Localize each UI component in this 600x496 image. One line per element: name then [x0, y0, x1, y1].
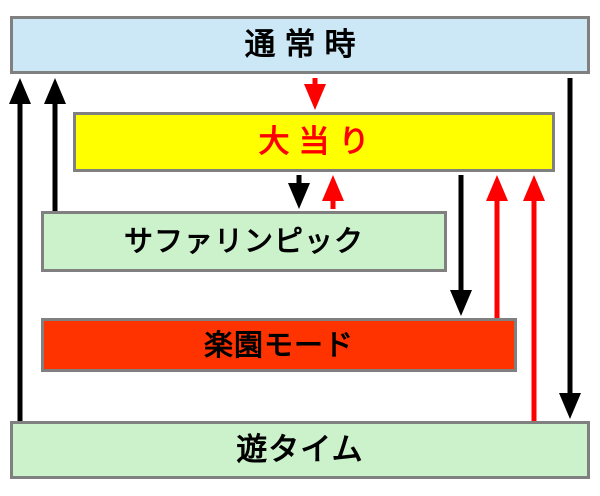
arrow-safarinpikku-to-jackpot-head [322, 175, 344, 201]
arrow-yutime-to-normal[interactable] [9, 78, 31, 421]
arrow-jackpot-to-rakuen[interactable] [450, 175, 472, 316]
arrow-jackpot-to-rakuen-head [450, 290, 472, 316]
node-rakuen-mode-label: 楽園モード [204, 331, 354, 360]
arrow-safarinpikku-to-normal[interactable] [44, 78, 66, 211]
arrow-yutime-to-jackpot-head [523, 175, 545, 201]
node-jackpot-label: 大当り [250, 127, 379, 158]
arrow-jackpot-to-safarinpikku-head [288, 183, 310, 209]
arrow-normal-to-jackpot-head [304, 84, 326, 110]
node-normal-mode-label: 通常時 [236, 30, 365, 61]
node-safarinpikku[interactable]: サファリンピック [41, 211, 447, 272]
node-jackpot[interactable]: 大当り [73, 112, 555, 172]
arrow-safarinpikku-to-jackpot[interactable] [322, 175, 344, 209]
arrow-safarinpikku-to-normal-head [44, 78, 66, 104]
arrow-normal-to-yutime-head [559, 393, 581, 419]
arrow-rakuen-to-jackpot-head [486, 175, 508, 201]
arrow-rakuen-to-jackpot[interactable] [486, 175, 508, 318]
arrow-normal-to-yutime[interactable] [559, 78, 581, 419]
arrow-jackpot-to-safarinpikku[interactable] [288, 175, 310, 209]
arrow-yutime-to-normal-head [9, 78, 31, 104]
arrow-yutime-to-jackpot[interactable] [523, 175, 545, 421]
node-yutime-label: 遊タイム [236, 435, 363, 466]
node-rakuen-mode[interactable]: 楽園モード [41, 318, 517, 372]
flowchart-diagram: 通常時 大当り サファリンピック 楽園モード 遊タイム [0, 0, 600, 496]
node-safarinpikku-label: サファリンピック [124, 227, 364, 256]
node-normal-mode[interactable]: 通常時 [10, 16, 590, 74]
arrow-normal-to-jackpot[interactable] [304, 78, 326, 110]
node-yutime[interactable]: 遊タイム [10, 421, 590, 479]
